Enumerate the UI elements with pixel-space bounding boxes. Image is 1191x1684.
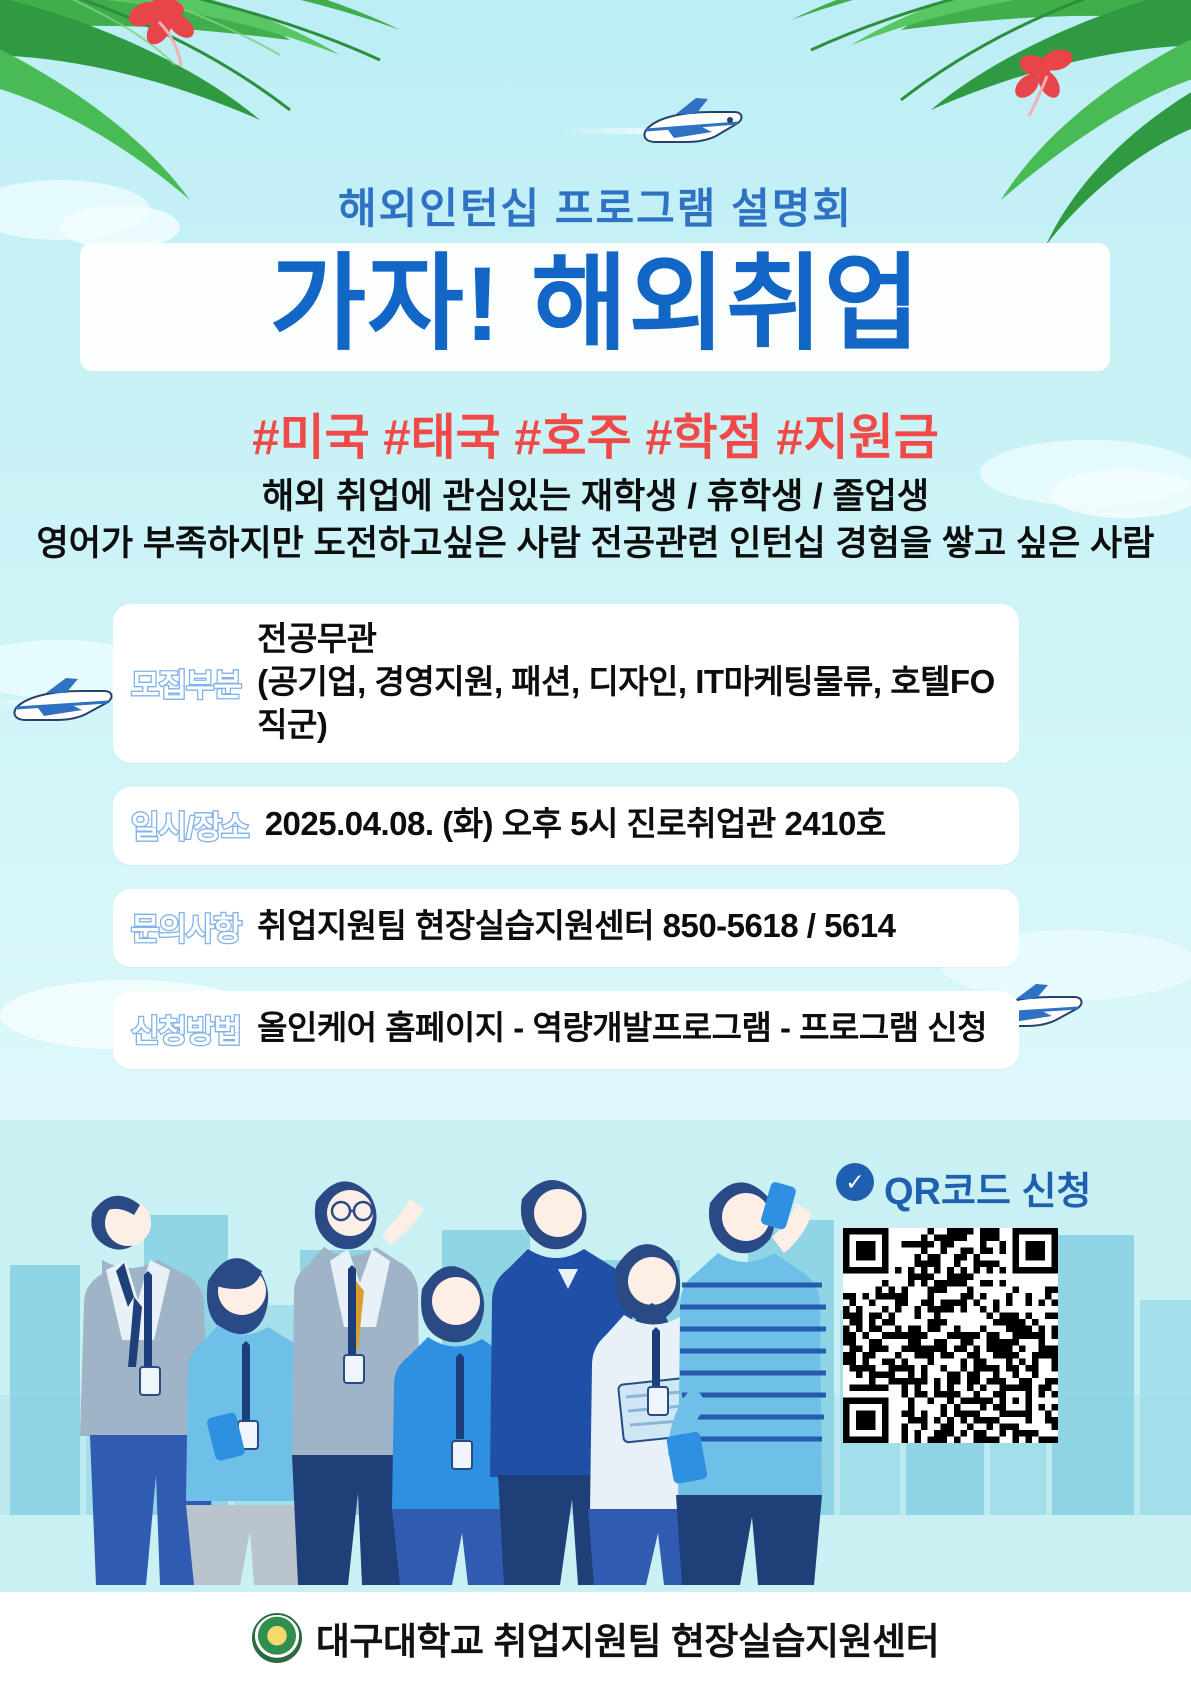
- hibiscus-flower-icon: [1001, 40, 1091, 120]
- person-figure: [666, 1181, 826, 1585]
- airplane-icon: [8, 676, 118, 734]
- person-figure: [186, 1258, 310, 1585]
- university-emblem-icon: [252, 1613, 302, 1663]
- info-card-value: 2025.04.08. (화) 오후 5시 진로취업관 2410호: [265, 803, 886, 846]
- info-card-tag: 일시/장소: [131, 802, 249, 847]
- info-card-list: 모집부분 전공무관 (공기업, 경영지원, 패션, 디자인, IT마케팅물류, …: [113, 604, 1019, 1093]
- footer-bar: 대구대학교 취업지원팀 현장실습지원센터: [0, 1592, 1191, 1684]
- poster-kicker: 해외인턴십 프로그램 설명회: [0, 175, 1191, 236]
- qr-code-image[interactable]: [843, 1228, 1058, 1443]
- building-shape: [1052, 1235, 1134, 1515]
- info-card-apply: 신청방법 올인케어 홈페이지 - 역량개발프로그램 - 프로그램 신청: [113, 991, 1019, 1069]
- subtitle-line-2: 영어가 부족하지만 도전하고싶은 사람 전공관련 인턴십 경험을 쌓고 싶은 사…: [0, 521, 1191, 568]
- info-card-value-line1: 전공무관: [257, 620, 376, 657]
- info-card-recruit: 모집부분 전공무관 (공기업, 경영지원, 패션, 디자인, IT마케팅물류, …: [113, 604, 1019, 763]
- info-card-tag: 모집부분: [131, 660, 241, 705]
- poster-root: 해외인턴십 프로그램 설명회 가자! 해외취업 #미국 #태국 #호주 #학점 …: [0, 0, 1191, 1684]
- info-card-value: 전공무관 (공기업, 경영지원, 패션, 디자인, IT마케팅물류, 호텔FO직…: [257, 618, 997, 747]
- qr-label: QR코드 신청: [884, 1160, 1091, 1215]
- poster-subtitle: 해외 취업에 관심있는 재학생 / 휴학생 / 졸업생 영어가 부족하지만 도전…: [0, 474, 1191, 568]
- airplane-icon: [638, 96, 748, 158]
- info-card-tag: 문의사항: [131, 904, 241, 949]
- info-card-tag: 신청방법: [131, 1006, 241, 1051]
- poster-headline: 가자! 해외취업: [0, 246, 1191, 364]
- footer-text: 대구대학교 취업지원팀 현장실습지원센터: [316, 1611, 939, 1665]
- check-circle-icon: ✓: [836, 1163, 874, 1201]
- people-illustration: [30, 1085, 860, 1585]
- qr-code[interactable]: [843, 1228, 1058, 1443]
- info-card-value: 올인케어 홈페이지 - 역량개발프로그램 - 프로그램 신청: [257, 1007, 987, 1050]
- info-card-inquiry: 문의사항 취업지원팀 현장실습지원센터 850-5618 / 5614: [113, 889, 1019, 967]
- hibiscus-flower-icon: [115, 0, 205, 72]
- info-card-datetime: 일시/장소 2025.04.08. (화) 오후 5시 진로취업관 2410호: [113, 787, 1019, 865]
- building-shape: [1140, 1300, 1191, 1515]
- info-card-value-line2: (공기업, 경영지원, 패션, 디자인, IT마케팅물류, 호텔FO직군): [257, 661, 997, 747]
- subtitle-line-1: 해외 취업에 관심있는 재학생 / 휴학생 / 졸업생: [0, 474, 1191, 521]
- poster-hashtags: #미국 #태국 #호주 #학점 #지원금: [0, 398, 1191, 469]
- info-card-value: 취업지원팀 현장실습지원센터 850-5618 / 5614: [257, 905, 895, 948]
